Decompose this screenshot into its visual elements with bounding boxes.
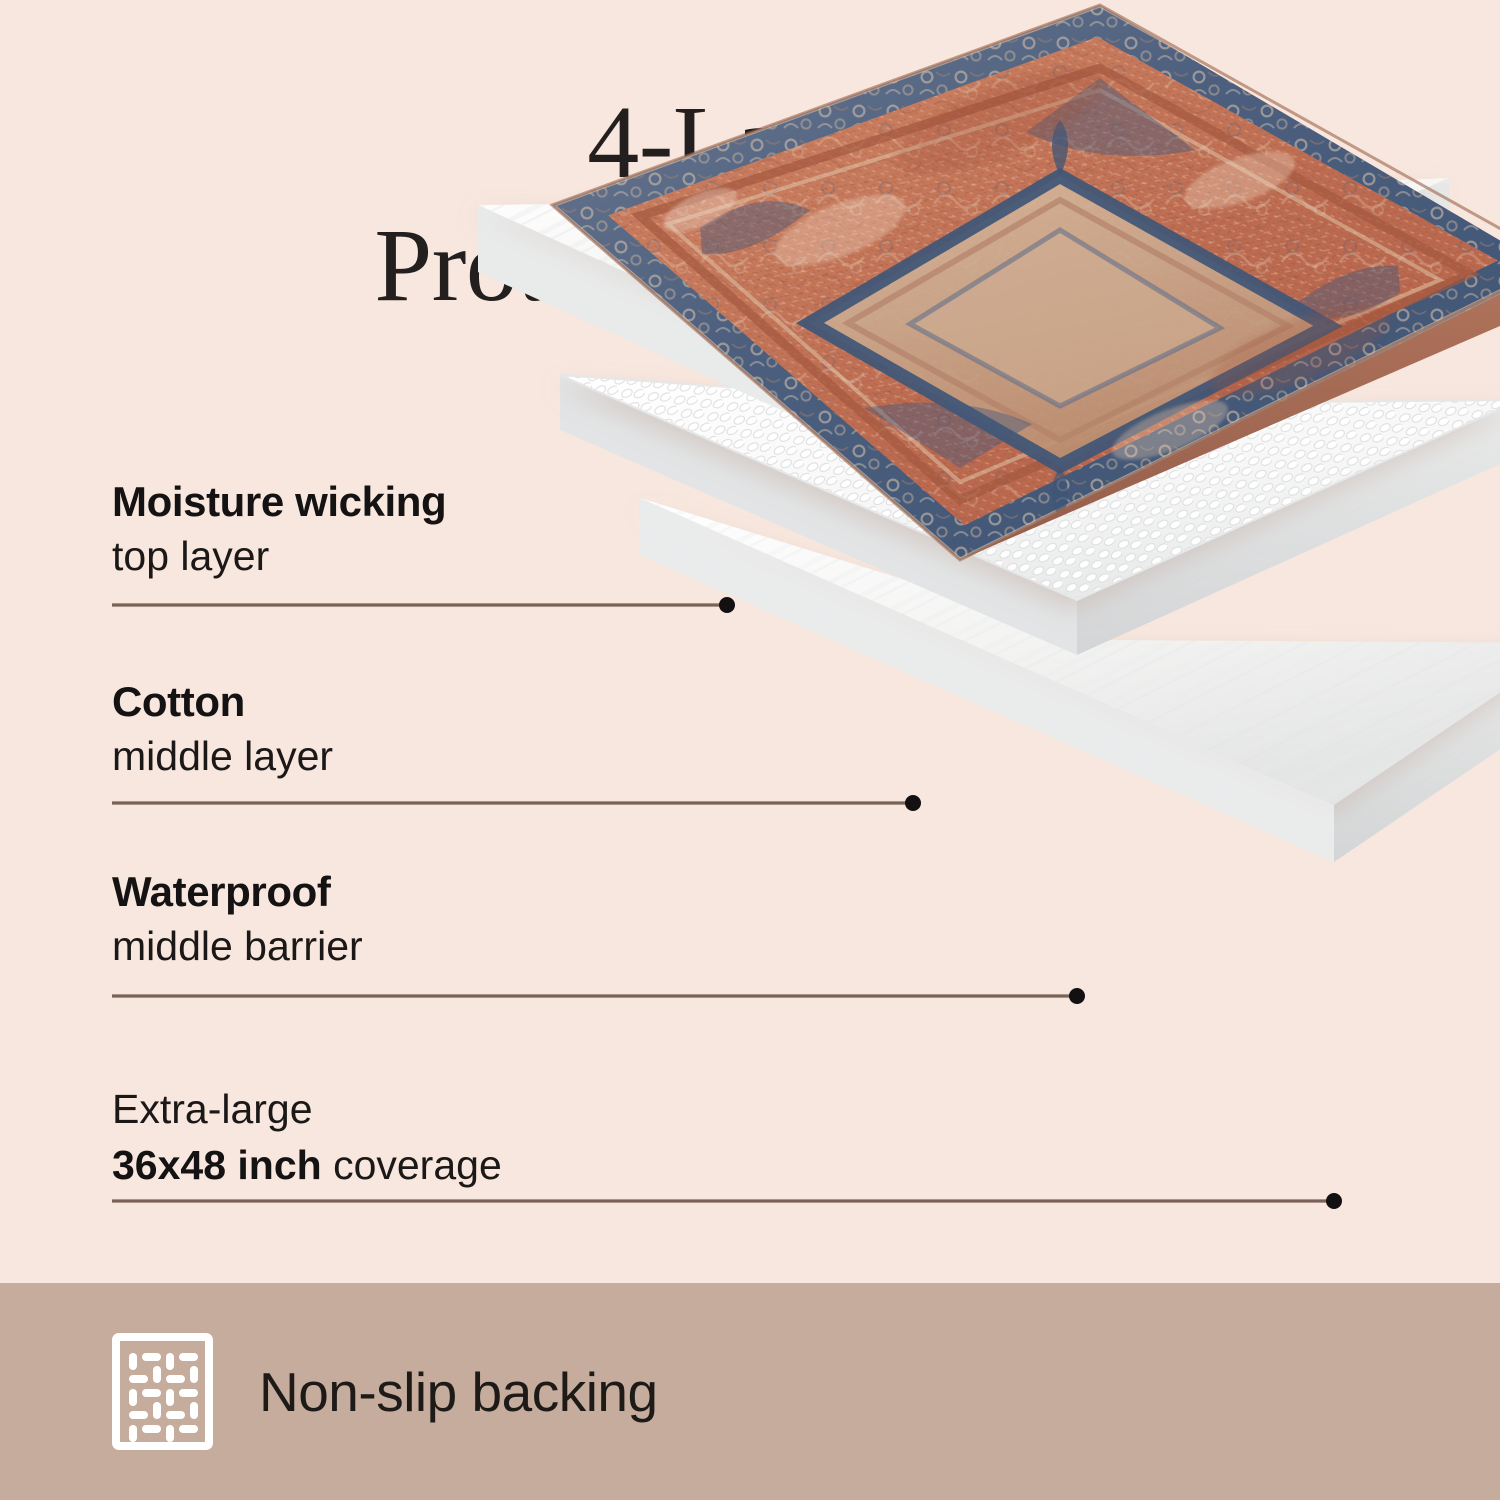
callout-head: Extra-large	[112, 1084, 502, 1134]
callout-head: Cotton	[112, 678, 333, 725]
leader-dot-coverage	[1326, 1193, 1342, 1209]
leader-dot-cotton	[905, 795, 921, 811]
callout-coverage: Extra-large 36x48 inch coverage	[112, 1078, 502, 1190]
callout-sub-suffix: coverage	[322, 1142, 502, 1188]
callout-sub: middle barrier	[112, 921, 363, 971]
callout-cotton: Cotton middle layer	[112, 678, 333, 781]
leader-dot-waterproof	[1069, 988, 1085, 1004]
infographic-canvas: 4-Layer Protection System	[0, 0, 1500, 1500]
non-slip-banner-content: Non-slip backing	[112, 1283, 658, 1500]
callout-sub: top layer	[112, 531, 446, 581]
non-slip-banner-label: Non-slip backing	[259, 1360, 658, 1424]
callout-sub: 36x48 inch coverage	[112, 1140, 502, 1190]
callout-sub-bold: 36x48 inch	[112, 1142, 322, 1188]
non-slip-banner: Non-slip backing	[0, 1283, 1500, 1500]
weave-grip-icon	[112, 1333, 213, 1450]
leader-dot-moisture-wicking	[719, 597, 735, 613]
callout-moisture-wicking: Moisture wicking top layer	[112, 478, 446, 581]
callout-waterproof: Waterproof middle barrier	[112, 868, 363, 971]
callout-head: Waterproof	[112, 868, 363, 915]
callout-head: Moisture wicking	[112, 478, 446, 525]
callout-sub: middle layer	[112, 731, 333, 781]
